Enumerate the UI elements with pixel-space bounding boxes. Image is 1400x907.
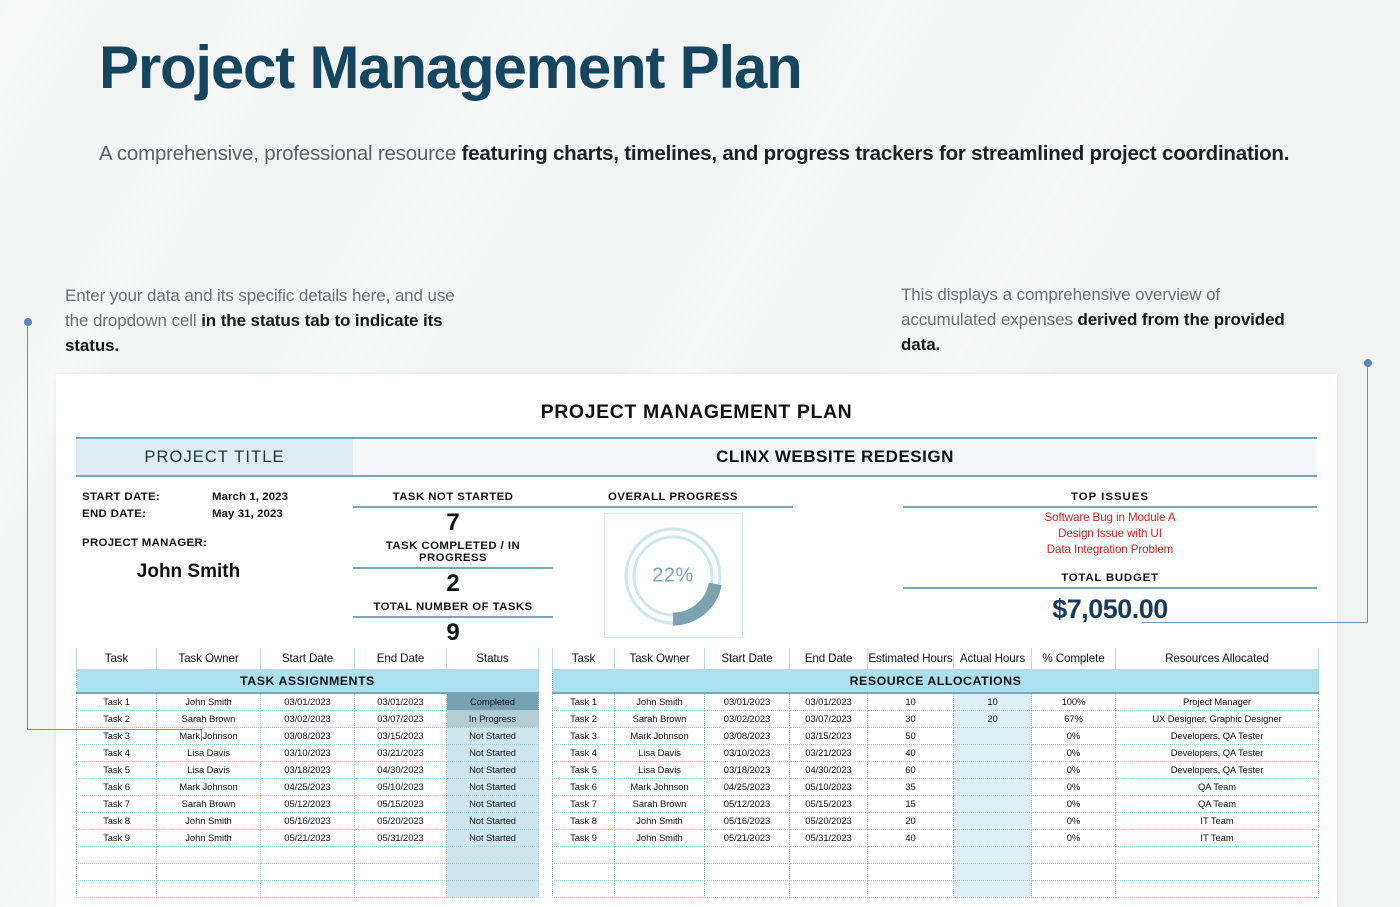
- cell[interactable]: 03/21/2023: [790, 744, 868, 761]
- table-row: [77, 863, 539, 880]
- column-header-3: End Date: [790, 648, 868, 669]
- actual-hours-cell[interactable]: [954, 744, 1032, 761]
- status-cell[interactable]: [447, 846, 539, 863]
- cell[interactable]: 04/30/2023: [355, 761, 447, 778]
- column-header-6: % Complete: [1032, 648, 1116, 669]
- connector-line-left-stub: [201, 729, 202, 741]
- project-title-label: PROJECT TITLE: [76, 439, 353, 475]
- table-row: [553, 846, 1319, 863]
- cell[interactable]: 03/07/2023: [355, 710, 447, 727]
- cell[interactable]: 05/12/2023: [705, 795, 790, 812]
- table-row: Task 5Lisa Davis03/18/202304/30/2023600%…: [553, 761, 1319, 778]
- actual-hours-cell[interactable]: [954, 761, 1032, 778]
- actual-hours-cell[interactable]: [954, 880, 1032, 897]
- progress-percent-label: 22%: [605, 564, 742, 587]
- table-row: Task 7Sarah Brown05/12/202305/15/2023Not…: [77, 795, 539, 812]
- cell[interactable]: Task 5: [553, 761, 615, 778]
- cell[interactable]: [355, 863, 447, 880]
- cell[interactable]: 05/20/2023: [355, 812, 447, 829]
- cell[interactable]: 05/10/2023: [355, 778, 447, 795]
- cell[interactable]: 20: [868, 812, 954, 829]
- resource-allocations-caption: RESOURCE ALLOCATIONS: [553, 669, 1319, 693]
- cell[interactable]: [1116, 863, 1319, 880]
- cell[interactable]: 03/02/2023: [705, 710, 790, 727]
- table-row: Task 6Mark Johnson04/25/202305/10/202335…: [553, 778, 1319, 795]
- cell[interactable]: 100%: [1032, 693, 1116, 710]
- status-cell[interactable]: Not Started: [447, 744, 539, 761]
- cell[interactable]: QA Team: [1116, 795, 1319, 812]
- issue-item-1: Design Issue with UI: [903, 527, 1317, 540]
- cell[interactable]: Project Manager: [1116, 693, 1319, 710]
- page-subtitle-bold: featuring charts, timelines, and progres…: [462, 142, 1290, 165]
- start-date-value[interactable]: March 1, 2023: [212, 491, 288, 503]
- table-row: Task 2Sarah Brown03/02/202303/07/2023302…: [553, 710, 1319, 727]
- cell[interactable]: 03/01/2023: [355, 693, 447, 710]
- cell[interactable]: [77, 863, 157, 880]
- cell[interactable]: John Smith: [157, 829, 261, 846]
- connector-line-right-vertical: [1367, 363, 1368, 622]
- table-row: Task 9John Smith05/21/202305/31/2023400%…: [553, 829, 1319, 846]
- cell[interactable]: [615, 880, 705, 897]
- cell[interactable]: Task 5: [77, 761, 157, 778]
- status-cell[interactable]: [447, 863, 539, 880]
- cell[interactable]: 0%: [1032, 812, 1116, 829]
- task-counts-block: TASK NOT STARTED 7 TASK COMPLETED / IN P…: [353, 491, 553, 640]
- cell[interactable]: 03/15/2023: [790, 727, 868, 744]
- status-cell[interactable]: [447, 880, 539, 897]
- issue-item-2: Data Integration Problem: [903, 543, 1317, 556]
- cell[interactable]: [868, 846, 954, 863]
- cell[interactable]: [157, 846, 261, 863]
- cell[interactable]: Lisa Davis: [157, 761, 261, 778]
- cell[interactable]: Task 3: [553, 727, 615, 744]
- cell[interactable]: Mark Johnson: [615, 727, 705, 744]
- cell[interactable]: [77, 846, 157, 863]
- cell[interactable]: John Smith: [157, 812, 261, 829]
- actual-hours-cell[interactable]: [954, 795, 1032, 812]
- cell[interactable]: [1032, 880, 1116, 897]
- cell[interactable]: 04/25/2023: [261, 778, 355, 795]
- cell[interactable]: 05/21/2023: [261, 829, 355, 846]
- cell[interactable]: 03/08/2023: [705, 727, 790, 744]
- table-row: Task 4Lisa Davis03/10/202303/21/2023400%…: [553, 744, 1319, 761]
- count-label-0: TASK NOT STARTED: [353, 491, 553, 508]
- cell[interactable]: Task 8: [77, 812, 157, 829]
- table-row: Task 1John Smith03/01/202303/01/20231010…: [553, 693, 1319, 710]
- overall-progress-block: OVERALL PROGRESS 22%: [553, 491, 793, 640]
- cell[interactable]: Developers, QA Tester: [1116, 761, 1319, 778]
- cell[interactable]: Mark Johnson: [615, 778, 705, 795]
- cell[interactable]: [553, 880, 615, 897]
- table-row: Task 7Sarah Brown05/12/202305/15/2023150…: [553, 795, 1319, 812]
- cell[interactable]: 40: [868, 744, 954, 761]
- actual-hours-cell[interactable]: [954, 812, 1032, 829]
- cell[interactable]: 05/15/2023: [355, 795, 447, 812]
- cell[interactable]: IT Team: [1116, 812, 1319, 829]
- task-assignments-head: TaskTask OwnerStart DateEnd DateStatus: [77, 648, 539, 669]
- count-value-1: 2: [353, 569, 553, 601]
- cell[interactable]: Task 8: [553, 812, 615, 829]
- cell[interactable]: 03/01/2023: [261, 693, 355, 710]
- cell[interactable]: John Smith: [157, 693, 261, 710]
- cell[interactable]: [553, 863, 615, 880]
- cell[interactable]: Sarah Brown: [615, 795, 705, 812]
- cell[interactable]: IT Team: [1116, 829, 1319, 846]
- cell[interactable]: 67%: [1032, 710, 1116, 727]
- cell[interactable]: 0%: [1032, 761, 1116, 778]
- page-title: Project Management Plan: [99, 36, 802, 99]
- resource-allocations-head: TaskTask OwnerStart DateEnd DateEstimate…: [553, 648, 1319, 669]
- cell[interactable]: 05/16/2023: [705, 812, 790, 829]
- table-row: Task 1John Smith03/01/202303/01/2023Comp…: [77, 693, 539, 710]
- cell[interactable]: [553, 846, 615, 863]
- column-header-2: Start Date: [705, 648, 790, 669]
- cell[interactable]: 0%: [1032, 829, 1116, 846]
- callout-right: This displays a comprehensive overview o…: [901, 282, 1291, 357]
- page-subtitle-light: A comprehensive, professional resource: [99, 142, 462, 165]
- cell[interactable]: Task 9: [77, 829, 157, 846]
- cell[interactable]: [355, 880, 447, 897]
- project-manager-label: PROJECT MANAGER:: [82, 537, 353, 549]
- cell[interactable]: UX Designer, Graphic Designer: [1116, 710, 1319, 727]
- cell[interactable]: [868, 863, 954, 880]
- cell[interactable]: Task 1: [77, 693, 157, 710]
- progress-donut-chart: 22%: [604, 513, 743, 638]
- column-header-2: Start Date: [261, 648, 355, 669]
- cell[interactable]: 60: [868, 761, 954, 778]
- cell[interactable]: John Smith: [615, 829, 705, 846]
- cell[interactable]: [615, 863, 705, 880]
- cell[interactable]: 35: [868, 778, 954, 795]
- cell[interactable]: [355, 846, 447, 863]
- cell[interactable]: [261, 863, 355, 880]
- cell[interactable]: [261, 880, 355, 897]
- column-header-3: End Date: [355, 648, 447, 669]
- cell[interactable]: Task 6: [553, 778, 615, 795]
- table-row: Task 6Mark Johnson04/25/202305/10/2023No…: [77, 778, 539, 795]
- actual-hours-cell[interactable]: [954, 829, 1032, 846]
- actual-hours-cell[interactable]: [954, 778, 1032, 795]
- cell[interactable]: 0%: [1032, 727, 1116, 744]
- cell[interactable]: 03/18/2023: [705, 761, 790, 778]
- cell[interactable]: 15: [868, 795, 954, 812]
- issues-budget-block: TOP ISSUES Software Bug in Module A Desi…: [903, 491, 1317, 640]
- cell[interactable]: Task 7: [77, 795, 157, 812]
- cell[interactable]: [868, 880, 954, 897]
- metrics-spacer: [793, 491, 903, 640]
- cell[interactable]: Developers, QA Tester: [1116, 744, 1319, 761]
- table-row: Task 2Sarah Brown03/02/202303/07/2023In …: [77, 710, 539, 727]
- table-row: Task 3Mark Johnson03/08/202303/15/202350…: [553, 727, 1319, 744]
- project-name-value[interactable]: CLINX WEBSITE REDESIGN: [353, 439, 1317, 475]
- page-subtitle: A comprehensive, professional resource f…: [99, 139, 1299, 168]
- cell[interactable]: John Smith: [615, 812, 705, 829]
- cell[interactable]: Lisa Davis: [615, 761, 705, 778]
- cell[interactable]: 05/10/2023: [790, 778, 868, 795]
- status-cell[interactable]: Not Started: [447, 795, 539, 812]
- cell[interactable]: Task 7: [553, 795, 615, 812]
- cell[interactable]: [705, 846, 790, 863]
- total-budget-label: TOTAL BUDGET: [903, 572, 1317, 589]
- cell[interactable]: 05/21/2023: [705, 829, 790, 846]
- resource-allocations-table: RESOURCE ALLOCATIONS TaskTask OwnerStart…: [552, 648, 1319, 898]
- cell[interactable]: Lisa Davis: [157, 744, 261, 761]
- connector-line-right-horizontal: [1142, 622, 1368, 623]
- cell[interactable]: 03/15/2023: [355, 727, 447, 744]
- cell[interactable]: [790, 846, 868, 863]
- connector-dot-right: [1364, 359, 1372, 367]
- cell[interactable]: 0%: [1032, 744, 1116, 761]
- cell[interactable]: [1116, 846, 1319, 863]
- end-date-value[interactable]: May 31, 2023: [212, 508, 283, 520]
- cell[interactable]: Lisa Davis: [615, 744, 705, 761]
- cell[interactable]: John Smith: [615, 693, 705, 710]
- tables-row: TASK ASSIGNMENTS TaskTask OwnerStart Dat…: [76, 648, 1317, 898]
- status-cell[interactable]: In Progress: [447, 710, 539, 727]
- cell[interactable]: Task 2: [553, 710, 615, 727]
- cell[interactable]: 05/16/2023: [261, 812, 355, 829]
- end-date-label: END DATE:: [82, 508, 212, 520]
- cell[interactable]: [157, 863, 261, 880]
- cell[interactable]: 03/07/2023: [790, 710, 868, 727]
- cell[interactable]: 03/02/2023: [261, 710, 355, 727]
- cell[interactable]: [77, 880, 157, 897]
- actual-hours-cell[interactable]: [954, 846, 1032, 863]
- cell[interactable]: 10: [868, 693, 954, 710]
- connector-line-left-vertical: [27, 322, 28, 729]
- cell[interactable]: Sarah Brown: [157, 795, 261, 812]
- cell[interactable]: 03/08/2023: [261, 727, 355, 744]
- task-assignments-caption: TASK ASSIGNMENTS: [77, 669, 539, 693]
- cell[interactable]: 03/10/2023: [705, 744, 790, 761]
- column-header-1: Task Owner: [157, 648, 261, 669]
- cell[interactable]: [1032, 846, 1116, 863]
- cell[interactable]: [261, 846, 355, 863]
- cell[interactable]: [1116, 880, 1319, 897]
- status-cell[interactable]: Not Started: [447, 812, 539, 829]
- project-title-band: PROJECT TITLE CLINX WEBSITE REDESIGN: [76, 439, 1317, 477]
- resource-allocations-body: Task 1John Smith03/01/202303/01/20231010…: [553, 693, 1319, 897]
- count-label-2: TOTAL NUMBER OF TASKS: [353, 601, 553, 618]
- cell[interactable]: Task 6: [77, 778, 157, 795]
- cell[interactable]: 05/15/2023: [790, 795, 868, 812]
- callout-left: Enter your data and its specific details…: [65, 283, 465, 358]
- cell[interactable]: [1032, 863, 1116, 880]
- cell[interactable]: 03/01/2023: [790, 693, 868, 710]
- cell[interactable]: Task 4: [553, 744, 615, 761]
- status-cell[interactable]: Completed: [447, 693, 539, 710]
- table-row: [553, 880, 1319, 897]
- cell[interactable]: 40: [868, 829, 954, 846]
- column-header-4: Status: [447, 648, 539, 669]
- table-row: [553, 863, 1319, 880]
- cell[interactable]: 30: [868, 710, 954, 727]
- column-header-1: Task Owner: [615, 648, 705, 669]
- status-cell[interactable]: Not Started: [447, 829, 539, 846]
- column-header-5: Actual Hours: [954, 648, 1032, 669]
- cell[interactable]: 03/01/2023: [705, 693, 790, 710]
- cell[interactable]: Task 1: [553, 693, 615, 710]
- column-header-0: Task: [77, 648, 157, 669]
- cell[interactable]: [157, 880, 261, 897]
- total-budget-value: $7,050.00: [903, 594, 1317, 625]
- status-cell[interactable]: Not Started: [447, 761, 539, 778]
- cell[interactable]: 05/31/2023: [355, 829, 447, 846]
- count-label-1: TASK COMPLETED / IN PROGRESS: [353, 540, 553, 569]
- project-manager-value[interactable]: John Smith: [82, 561, 353, 583]
- cell[interactable]: 03/10/2023: [261, 744, 355, 761]
- sheet-title: PROJECT MANAGEMENT PLAN: [56, 374, 1337, 424]
- start-date-label: START DATE:: [82, 491, 212, 503]
- status-cell[interactable]: Not Started: [447, 778, 539, 795]
- project-info-block: START DATE: March 1, 2023 END DATE: May …: [76, 491, 353, 640]
- cell[interactable]: 0%: [1032, 795, 1116, 812]
- cell[interactable]: Mark Johnson: [157, 778, 261, 795]
- actual-hours-cell[interactable]: [954, 863, 1032, 880]
- cell[interactable]: [705, 863, 790, 880]
- cell[interactable]: Task 2: [77, 710, 157, 727]
- cell[interactable]: Sarah Brown: [615, 710, 705, 727]
- cell[interactable]: [705, 880, 790, 897]
- cell[interactable]: Developers, QA Tester: [1116, 727, 1319, 744]
- count-value-0: 7: [353, 508, 553, 540]
- metrics-row: START DATE: March 1, 2023 END DATE: May …: [76, 477, 1317, 640]
- overall-progress-label: OVERALL PROGRESS: [553, 491, 793, 508]
- cell[interactable]: 03/18/2023: [261, 761, 355, 778]
- cell[interactable]: 04/25/2023: [705, 778, 790, 795]
- cell[interactable]: 05/31/2023: [790, 829, 868, 846]
- count-value-2: 9: [353, 618, 553, 650]
- table-row: [77, 846, 539, 863]
- column-header-7: Resources Allocated: [1116, 648, 1319, 669]
- table-row: Task 9John Smith05/21/202305/31/2023Not …: [77, 829, 539, 846]
- table-row: [77, 880, 539, 897]
- issue-item-0: Software Bug in Module A: [903, 511, 1317, 524]
- cell[interactable]: 05/20/2023: [790, 812, 868, 829]
- task-assignments-body: Task 1John Smith03/01/202303/01/2023Comp…: [77, 693, 539, 897]
- cell[interactable]: [615, 846, 705, 863]
- column-header-4: Estimated Hours: [868, 648, 954, 669]
- connector-line-left-horizontal: [27, 729, 202, 730]
- top-issues-label: TOP ISSUES: [903, 491, 1317, 508]
- cell[interactable]: QA Team: [1116, 778, 1319, 795]
- column-header-0: Task: [553, 648, 615, 669]
- actual-hours-cell[interactable]: 20: [954, 710, 1032, 727]
- cell[interactable]: 50: [868, 727, 954, 744]
- table-row: Task 8John Smith05/16/202305/20/2023Not …: [77, 812, 539, 829]
- cell[interactable]: [790, 863, 868, 880]
- table-row: Task 4Lisa Davis03/10/202303/21/2023Not …: [77, 744, 539, 761]
- actual-hours-cell[interactable]: [954, 727, 1032, 744]
- actual-hours-cell[interactable]: 10: [954, 693, 1032, 710]
- cell[interactable]: [790, 880, 868, 897]
- table-row: Task 8John Smith05/16/202305/20/2023200%…: [553, 812, 1319, 829]
- table-row: Task 5Lisa Davis03/18/202304/30/2023Not …: [77, 761, 539, 778]
- cell[interactable]: 04/30/2023: [790, 761, 868, 778]
- project-plan-sheet: PROJECT MANAGEMENT PLAN PROJECT TITLE CL…: [56, 374, 1337, 907]
- cell[interactable]: Task 9: [553, 829, 615, 846]
- connector-dot-left: [24, 318, 32, 326]
- cell[interactable]: 03/21/2023: [355, 744, 447, 761]
- cell[interactable]: 05/12/2023: [261, 795, 355, 812]
- cell[interactable]: Sarah Brown: [157, 710, 261, 727]
- status-cell[interactable]: Not Started: [447, 727, 539, 744]
- task-assignments-table: TASK ASSIGNMENTS TaskTask OwnerStart Dat…: [76, 648, 539, 898]
- cell[interactable]: 0%: [1032, 778, 1116, 795]
- cell[interactable]: Task 4: [77, 744, 157, 761]
